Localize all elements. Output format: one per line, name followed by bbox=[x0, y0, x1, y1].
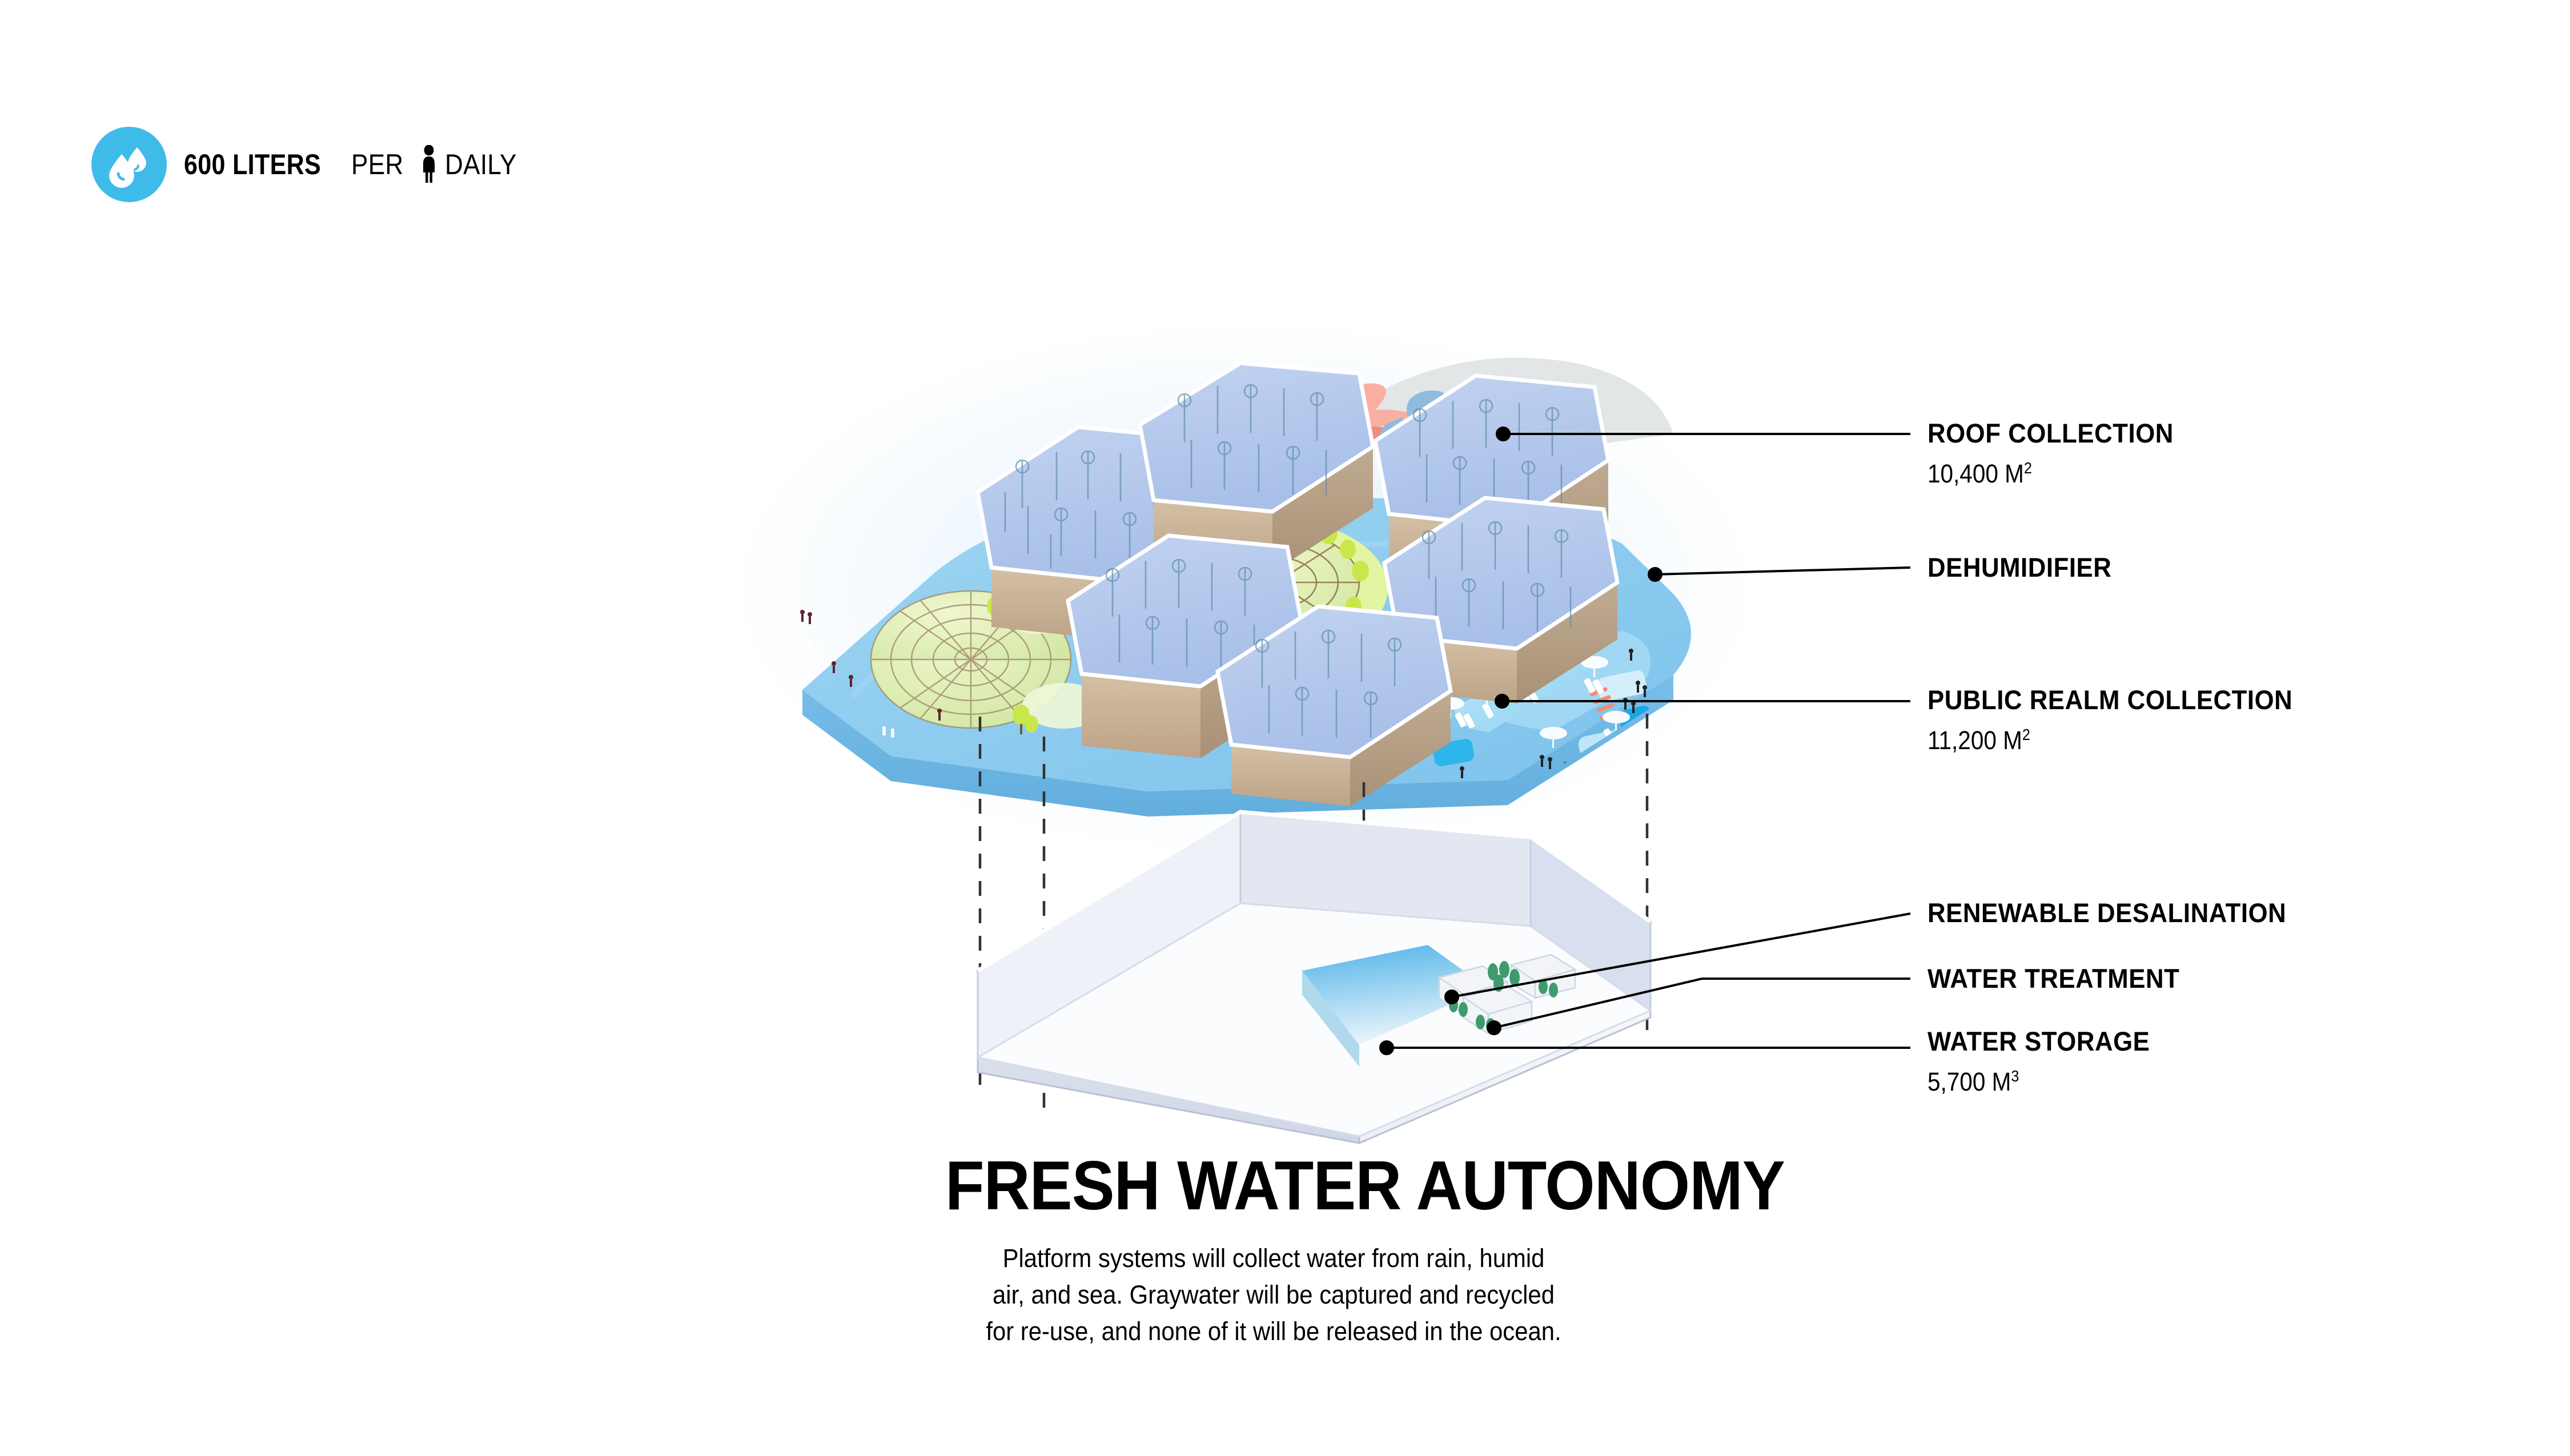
callout-title: WATER STORAGE bbox=[1927, 1028, 2150, 1055]
callout-water-storage: WATER STORAGE 5,700 M3 bbox=[1927, 1028, 2167, 1095]
callout-value-exponent: 2 bbox=[2024, 459, 2032, 477]
callout-value: 10,400 M2 bbox=[1927, 460, 2166, 486]
body-line-3: for re-use, and none of it will be relea… bbox=[971, 1313, 1576, 1350]
callout-title: WATER TREATMENT bbox=[1927, 965, 2179, 992]
badge-amount: 600 LITERS bbox=[184, 150, 321, 179]
callout-water-treatment: WATER TREATMENT bbox=[1927, 965, 2199, 992]
water-drops-icon bbox=[103, 138, 155, 191]
body-copy: Platform systems will collect water from… bbox=[971, 1240, 1576, 1350]
callout-renewable-desalination: RENEWABLE DESALINATION bbox=[1927, 899, 2314, 926]
callout-roof-collection: ROOF COLLECTION 10,400 M2 bbox=[1927, 420, 2192, 486]
callout-value-number: 5,700 M bbox=[1927, 1067, 2011, 1096]
badge-text: 600 LITERS PER DAILY bbox=[184, 145, 527, 184]
badge-frequency: DAILY bbox=[445, 150, 517, 179]
water-drops-badge-circle bbox=[91, 127, 167, 202]
callout-title: RENEWABLE DESALINATION bbox=[1927, 899, 2286, 926]
body-line-1: Platform systems will collect water from… bbox=[971, 1240, 1576, 1277]
callout-dehumidifier: DEHUMIDIFIER bbox=[1927, 554, 2126, 581]
body-line-2: air, and sea. Graywater will be captured… bbox=[971, 1277, 1576, 1313]
person-icon bbox=[420, 145, 438, 184]
callout-value-exponent: 3 bbox=[2011, 1067, 2019, 1085]
callout-title: ROOF COLLECTION bbox=[1927, 420, 2174, 447]
callout-value-exponent: 2 bbox=[2022, 726, 2030, 743]
page-title: FRESH WATER AUTONOMY bbox=[945, 1151, 1785, 1220]
badge-per: PER bbox=[351, 150, 404, 179]
callout-title: PUBLIC REALM COLLECTION bbox=[1927, 686, 2292, 713]
callout-value-number: 11,200 M bbox=[1927, 726, 2022, 755]
callout-value-number: 10,400 M bbox=[1927, 459, 2024, 488]
illustration-stage: 600 LITERS PER DAILY ROOF COLLECTION 10,… bbox=[0, 0, 2570, 1456]
water-consumption-badge: 600 LITERS PER DAILY bbox=[91, 127, 527, 202]
water-infrastructure-basin bbox=[978, 812, 1651, 1143]
callout-value: 11,200 M2 bbox=[1927, 727, 2281, 753]
callout-public-realm-collection: PUBLIC REALM COLLECTION 11,200 M2 bbox=[1927, 686, 2320, 753]
callout-title: DEHUMIDIFIER bbox=[1927, 554, 2111, 581]
callout-value: 5,700 M3 bbox=[1927, 1068, 2143, 1095]
